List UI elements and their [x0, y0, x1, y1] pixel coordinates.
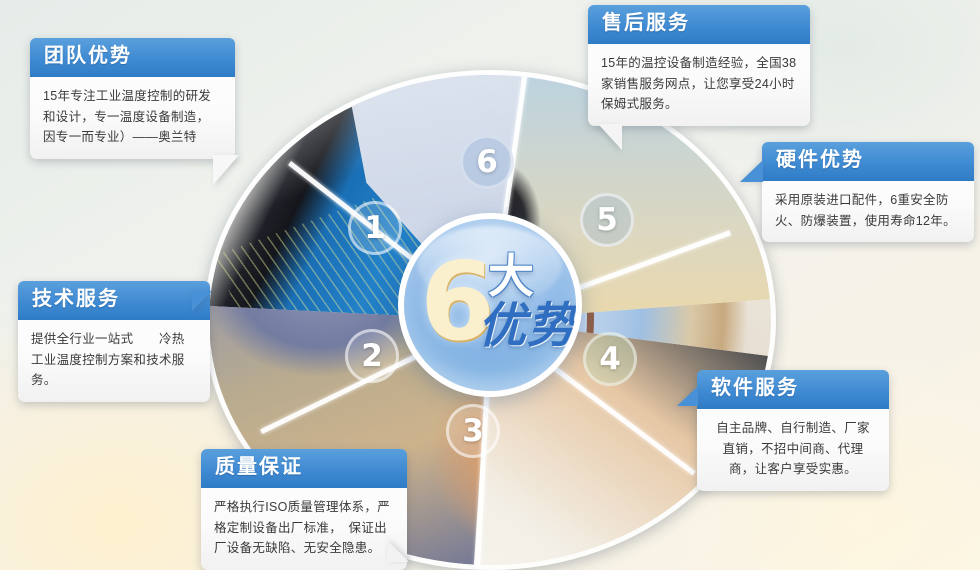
callout-tail-software: [677, 386, 698, 406]
callout-title-software: 软件服务: [697, 370, 889, 409]
segment-number-badge-5[interactable]: 5: [580, 193, 634, 247]
callout-title-after-sales: 售后服务: [588, 5, 810, 44]
segment-number-badge-4[interactable]: 4: [583, 332, 637, 386]
segment-number-badge-2[interactable]: 2: [345, 329, 399, 383]
infographic-canvas: 6 大 优势 1 2 3 4 5 6 团队优势 15年专注工业温度控制的研发和设…: [0, 0, 980, 570]
callout-card-hardware[interactable]: 硬件优势 采用原装进口配件，6重安全防火、防爆装置，使用寿命12年。: [762, 142, 974, 242]
callout-body-after-sales: 15年的温控设备制造经验，全国38家销售服务网点，让您享受24小时保姆式服务。: [588, 44, 810, 126]
callout-card-after-sales[interactable]: 售后服务 15年的温控设备制造经验，全国38家销售服务网点，让您享受24小时保姆…: [588, 5, 810, 126]
center-hub: 6 大 优势: [398, 213, 582, 397]
segment-number-badge-6[interactable]: 6: [460, 135, 514, 189]
callout-card-quality[interactable]: 质量保证 严格执行ISO质量管理体系，严格定制设备出厂标准， 保证出厂设备无缺陷…: [201, 449, 407, 570]
callout-tail-technical: [192, 291, 212, 311]
callout-body-hardware: 采用原装进口配件，6重安全防火、防爆装置，使用寿命12年。: [762, 181, 974, 242]
callout-card-technical[interactable]: 技术服务 提供全行业一站式 冷热工业温度控制方案和技术服务。: [18, 281, 210, 402]
callout-card-team[interactable]: 团队优势 15年专注工业温度控制的研发和设计，专一温度设备制造，因专一而专业）—…: [30, 38, 235, 159]
callout-card-software[interactable]: 软件服务 自主品牌、自行制造、厂家直销，不招中间商、代理商，让客户享受实惠。: [697, 370, 889, 491]
hub-characters-advantage: 优势: [478, 303, 576, 351]
callout-tail-after-sales: [598, 124, 622, 150]
callout-tail-quality: [387, 540, 409, 562]
callout-title-team: 团队优势: [30, 38, 235, 77]
hub-character-da: 大: [488, 253, 534, 299]
segment-number-badge-3[interactable]: 3: [446, 404, 500, 458]
callout-body-team: 15年专注工业温度控制的研发和设计，专一温度设备制造，因专一而专业）——奥兰特: [30, 77, 235, 159]
callout-body-software: 自主品牌、自行制造、厂家直销，不招中间商、代理商，让客户享受实惠。: [697, 409, 889, 491]
callout-body-technical: 提供全行业一站式 冷热工业温度控制方案和技术服务。: [18, 320, 210, 402]
callout-title-quality: 质量保证: [201, 449, 407, 488]
callout-tail-hardware: [740, 160, 763, 182]
callout-body-quality: 严格执行ISO质量管理体系，严格定制设备出厂标准， 保证出厂设备无缺陷、无安全隐…: [201, 488, 407, 570]
callout-tail-team: [213, 155, 239, 185]
segment-number-badge-1[interactable]: 1: [348, 201, 402, 255]
callout-title-technical: 技术服务: [18, 281, 210, 320]
callout-title-hardware: 硬件优势: [762, 142, 974, 181]
